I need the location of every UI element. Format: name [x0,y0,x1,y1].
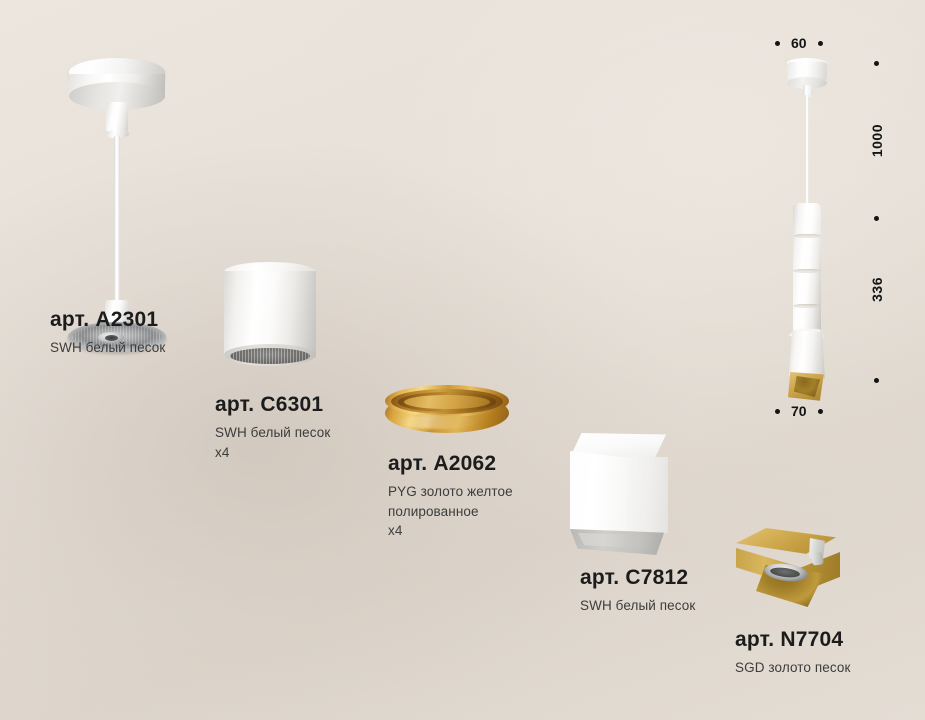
product-image-assembly [780,58,840,408]
finish-line-a2301: SWH белый песок [50,338,165,358]
finish-line-c7812: SWH белый песок [580,596,695,616]
dimension-body-length: 336 [869,277,885,302]
ring-highlight-icon [399,415,479,429]
quantity-a2062: x4 [388,521,513,541]
dimension-dot-icon [775,41,780,46]
product-image-n7704 [730,528,845,618]
assembly-suspension-rod-icon [805,95,809,205]
label-n7704: арт. N7704 SGD золото песок [735,628,851,678]
article-code-c7812: арт. C7812 [580,566,695,589]
product-image-a2062 [385,385,509,435]
finish-description-n7704: SGD золото песок [735,658,851,678]
article-code-c6301: арт. C6301 [215,393,330,416]
spring-clip-base-icon [811,551,824,565]
dimension-bottom-width: 70 [775,403,823,419]
article-code-n7704: арт. N7704 [735,628,851,651]
product-image-c7812 [566,433,676,553]
finish-description-a2301: SWH белый песок [50,338,165,358]
finish-description-c7812: SWH белый песок [580,596,695,616]
quantity-c6301: x4 [215,443,330,463]
cube-right-face-icon [626,457,668,543]
product-diagram-canvas: арт. A2301 SWH белый песок арт. C6301 SW… [0,0,925,720]
product-image-a2301 [60,50,190,310]
cylinder-bottom-aperture-icon [230,348,310,364]
assembly-tube-seam-icon [793,269,821,273]
article-code-a2301: арт. A2301 [50,308,165,331]
finish-line-c6301: SWH белый песок [215,423,330,443]
assembly-tube-seam-icon [793,304,821,308]
article-code-a2062: арт. A2062 [388,452,513,475]
ring-inner-bevel-icon [404,395,490,409]
assembly-tube-seam-icon [793,234,821,238]
dimension-dot-icon [818,409,823,414]
dimension-value-bottom-width: 70 [791,403,807,419]
cube-left-face-icon [570,451,628,537]
dimension-value-top-width: 60 [791,35,807,51]
label-a2062: арт. A2062 PYG золото желтое полированно… [388,452,513,541]
finish-description-a2062: PYG золото желтое полированное x4 [388,482,513,541]
dimension-dot-icon [874,216,879,221]
dimension-dot-icon [818,41,823,46]
dimension-dot-icon [874,61,879,66]
dimension-top-width: 60 [775,35,823,51]
finish-line2-a2062: полированное [388,502,513,522]
dimension-dot-icon [775,409,780,414]
label-a2301: арт. A2301 SWH белый песок [50,308,165,358]
dimension-dot-icon [874,378,879,383]
label-c6301: арт. C6301 SWH белый песок x4 [215,393,330,462]
finish-description-c6301: SWH белый песок x4 [215,423,330,462]
finish-line-n7704: SGD золото песок [735,658,851,678]
label-c7812: арт. C7812 SWH белый песок [580,566,695,616]
suspension-rod-icon [114,136,120,304]
dimension-suspension-length: 1000 [869,124,885,157]
finish-line1-a2062: PYG золото желтое [388,482,513,502]
product-image-c6301 [222,262,322,372]
